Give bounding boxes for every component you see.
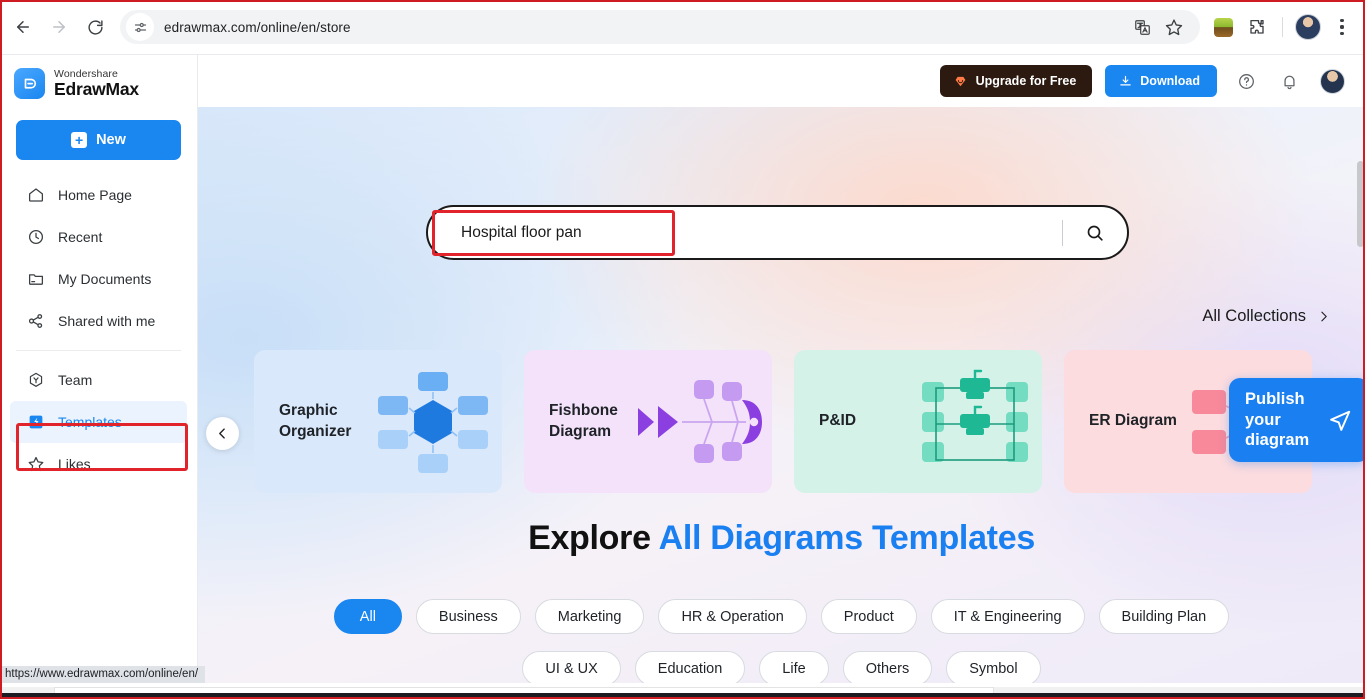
- green-extension-icon: [1214, 18, 1233, 37]
- browser-toolbar-right: [1208, 12, 1365, 42]
- bottom-strip: [0, 683, 1365, 699]
- category-pill-business[interactable]: Business: [416, 599, 521, 634]
- brand-logo[interactable]: Wondershare EdrawMax: [0, 55, 197, 99]
- download-icon: [1118, 74, 1133, 89]
- sidebar-item-shared-with-me[interactable]: Shared with me: [10, 300, 187, 342]
- puzzle-icon: [1248, 18, 1266, 36]
- sidebar-item-my-documents[interactable]: My Documents: [10, 258, 187, 300]
- download-button[interactable]: Download: [1105, 65, 1217, 97]
- main-content: Upgrade for Free Download: [198, 55, 1365, 683]
- download-button-label: Download: [1140, 74, 1200, 88]
- templates-icon: [26, 413, 45, 432]
- three-dot-menu-icon: [1340, 19, 1343, 35]
- sidebar-item-likes[interactable]: Likes: [10, 443, 187, 485]
- send-paper-plane-icon: [1327, 408, 1353, 434]
- collection-card-graphic-organizer[interactable]: Graphic Organizer: [254, 350, 502, 493]
- help-button[interactable]: [1232, 67, 1260, 95]
- browser-toolbar: edrawmax.com/online/en/store: [0, 0, 1365, 55]
- card-title: Fishbone Diagram: [549, 401, 641, 442]
- app-header: Upgrade for Free Download: [198, 55, 1365, 107]
- star-icon: [1165, 18, 1183, 36]
- chevron-left-icon: [216, 427, 229, 440]
- category-pill-product[interactable]: Product: [821, 599, 917, 634]
- collection-cards: Graphic Organizer: [254, 350, 1312, 493]
- sidebar-item-label: Likes: [58, 456, 91, 472]
- category-pill-education[interactable]: Education: [635, 651, 746, 683]
- profile-button[interactable]: [1293, 12, 1323, 42]
- translate-icon: [1134, 19, 1151, 36]
- sidebar-item-label: Home Page: [58, 187, 132, 203]
- app-window: Wondershare EdrawMax + New Home Page Rec…: [0, 55, 1365, 683]
- category-pill-it-engineering[interactable]: IT & Engineering: [931, 599, 1085, 634]
- sidebar-nav: Home Page Recent My Documents Shared wit…: [0, 174, 197, 485]
- publish-line-3: diagram: [1245, 430, 1309, 451]
- notifications-button[interactable]: [1275, 67, 1303, 95]
- magnifier-icon: [1085, 223, 1105, 243]
- browser-nav-buttons: [0, 10, 112, 44]
- home-icon: [26, 186, 45, 205]
- url-text[interactable]: edrawmax.com/online/en/store: [164, 20, 1128, 35]
- site-settings-icon: [133, 20, 148, 35]
- card-title: P&ID: [819, 411, 856, 431]
- sidebar-item-label: Team: [58, 372, 92, 388]
- sidebar-item-home-page[interactable]: Home Page: [10, 174, 187, 216]
- plus-icon: +: [71, 132, 87, 148]
- category-pills-row-1: All Business Marketing HR & Operation Pr…: [198, 599, 1365, 634]
- all-collections-label: All Collections: [1202, 307, 1306, 326]
- taskbar: [0, 693, 1365, 699]
- explore-prefix: Explore: [528, 519, 651, 557]
- new-button[interactable]: + New: [16, 120, 181, 160]
- page-scrollbar-thumb[interactable]: [1357, 161, 1364, 247]
- sidebar-item-recent[interactable]: Recent: [10, 216, 187, 258]
- forward-arrow-icon: [50, 18, 68, 36]
- edraw-glyph-icon: [21, 75, 39, 93]
- help-circle-icon: [1237, 72, 1256, 91]
- search-input[interactable]: [428, 224, 1062, 242]
- explore-highlight: All Diagrams Templates: [659, 519, 1035, 557]
- category-pills-row-2: UI & UX Education Life Others Symbol: [198, 651, 1365, 683]
- carousel-prev-button[interactable]: [206, 417, 239, 450]
- extension-shortcut-button[interactable]: [1208, 12, 1238, 42]
- sidebar-item-templates[interactable]: Templates: [10, 401, 187, 443]
- clock-icon: [26, 228, 45, 247]
- reload-icon: [87, 19, 104, 36]
- card-title: Graphic Organizer: [279, 401, 371, 442]
- category-pill-others[interactable]: Others: [843, 651, 933, 683]
- translate-button[interactable]: [1128, 13, 1156, 41]
- upgrade-button[interactable]: Upgrade for Free: [940, 65, 1093, 97]
- collection-card-fishbone-diagram[interactable]: Fishbone Diagram: [524, 350, 772, 493]
- all-collections-link[interactable]: All Collections: [1202, 307, 1330, 326]
- sidebar-item-label: Shared with me: [58, 313, 155, 329]
- team-icon: [26, 371, 45, 390]
- category-pill-building-plan[interactable]: Building Plan: [1099, 599, 1230, 634]
- pid-diagram-icon: [920, 368, 1032, 476]
- site-settings-button[interactable]: [126, 13, 154, 41]
- publish-line-2: your: [1245, 410, 1309, 431]
- fishbone-diagram-icon: [634, 372, 762, 472]
- diamond-icon: [953, 74, 968, 89]
- back-button[interactable]: [6, 10, 40, 44]
- category-pill-all[interactable]: All: [334, 599, 402, 634]
- upgrade-button-label: Upgrade for Free: [976, 74, 1077, 88]
- omnibox-actions: [1128, 13, 1188, 41]
- extensions-button[interactable]: [1242, 12, 1272, 42]
- collection-card-pid[interactable]: P&ID: [794, 350, 1042, 493]
- templates-glyph: [27, 413, 45, 431]
- publish-button-label: Publish your diagram: [1245, 389, 1309, 451]
- bookmark-button[interactable]: [1160, 13, 1188, 41]
- category-pill-life[interactable]: Life: [759, 651, 828, 683]
- sidebar-divider: [16, 350, 181, 351]
- template-search-bar[interactable]: [426, 205, 1129, 260]
- address-bar[interactable]: edrawmax.com/online/en/store: [120, 10, 1200, 44]
- sidebar-item-team[interactable]: Team: [10, 359, 187, 401]
- publish-your-diagram-button[interactable]: Publish your diagram: [1229, 378, 1365, 462]
- user-avatar: [1295, 14, 1321, 40]
- back-arrow-icon: [14, 18, 32, 36]
- toolbar-divider: [1282, 17, 1283, 37]
- star-outline-icon: [26, 455, 45, 474]
- share-icon: [26, 312, 45, 331]
- chrome-menu-button[interactable]: [1327, 12, 1357, 42]
- chevron-right-icon: [1317, 310, 1330, 323]
- category-pill-symbol[interactable]: Symbol: [946, 651, 1040, 683]
- category-pill-ui-ux[interactable]: UI & UX: [522, 651, 620, 683]
- hero-section: All Collections Graphic Organizer: [198, 107, 1365, 683]
- reload-button[interactable]: [78, 10, 112, 44]
- sidebar-item-label: Templates: [58, 414, 122, 430]
- edrawmax-logo-icon: [14, 68, 45, 99]
- explore-heading: Explore All Diagrams Templates: [198, 519, 1365, 558]
- forward-button[interactable]: [42, 10, 76, 44]
- card-title: ER Diagram: [1089, 411, 1177, 431]
- publish-line-1: Publish: [1245, 389, 1309, 410]
- search-submit-button[interactable]: [1063, 207, 1127, 258]
- folder-icon: [26, 270, 45, 289]
- category-pill-hr-operation[interactable]: HR & Operation: [658, 599, 806, 634]
- sidebar: Wondershare EdrawMax + New Home Page Rec…: [0, 55, 198, 683]
- account-avatar[interactable]: [1320, 69, 1345, 94]
- bell-icon: [1280, 72, 1299, 91]
- new-button-label: New: [96, 132, 126, 148]
- sidebar-item-label: Recent: [58, 229, 102, 245]
- sidebar-item-label: My Documents: [58, 271, 151, 287]
- hexagon-node-diagram-icon: [374, 368, 492, 476]
- brand-name: EdrawMax: [54, 80, 139, 98]
- category-pill-marketing[interactable]: Marketing: [535, 599, 645, 634]
- browser-status-bar: https://www.edrawmax.com/online/en/: [0, 666, 205, 683]
